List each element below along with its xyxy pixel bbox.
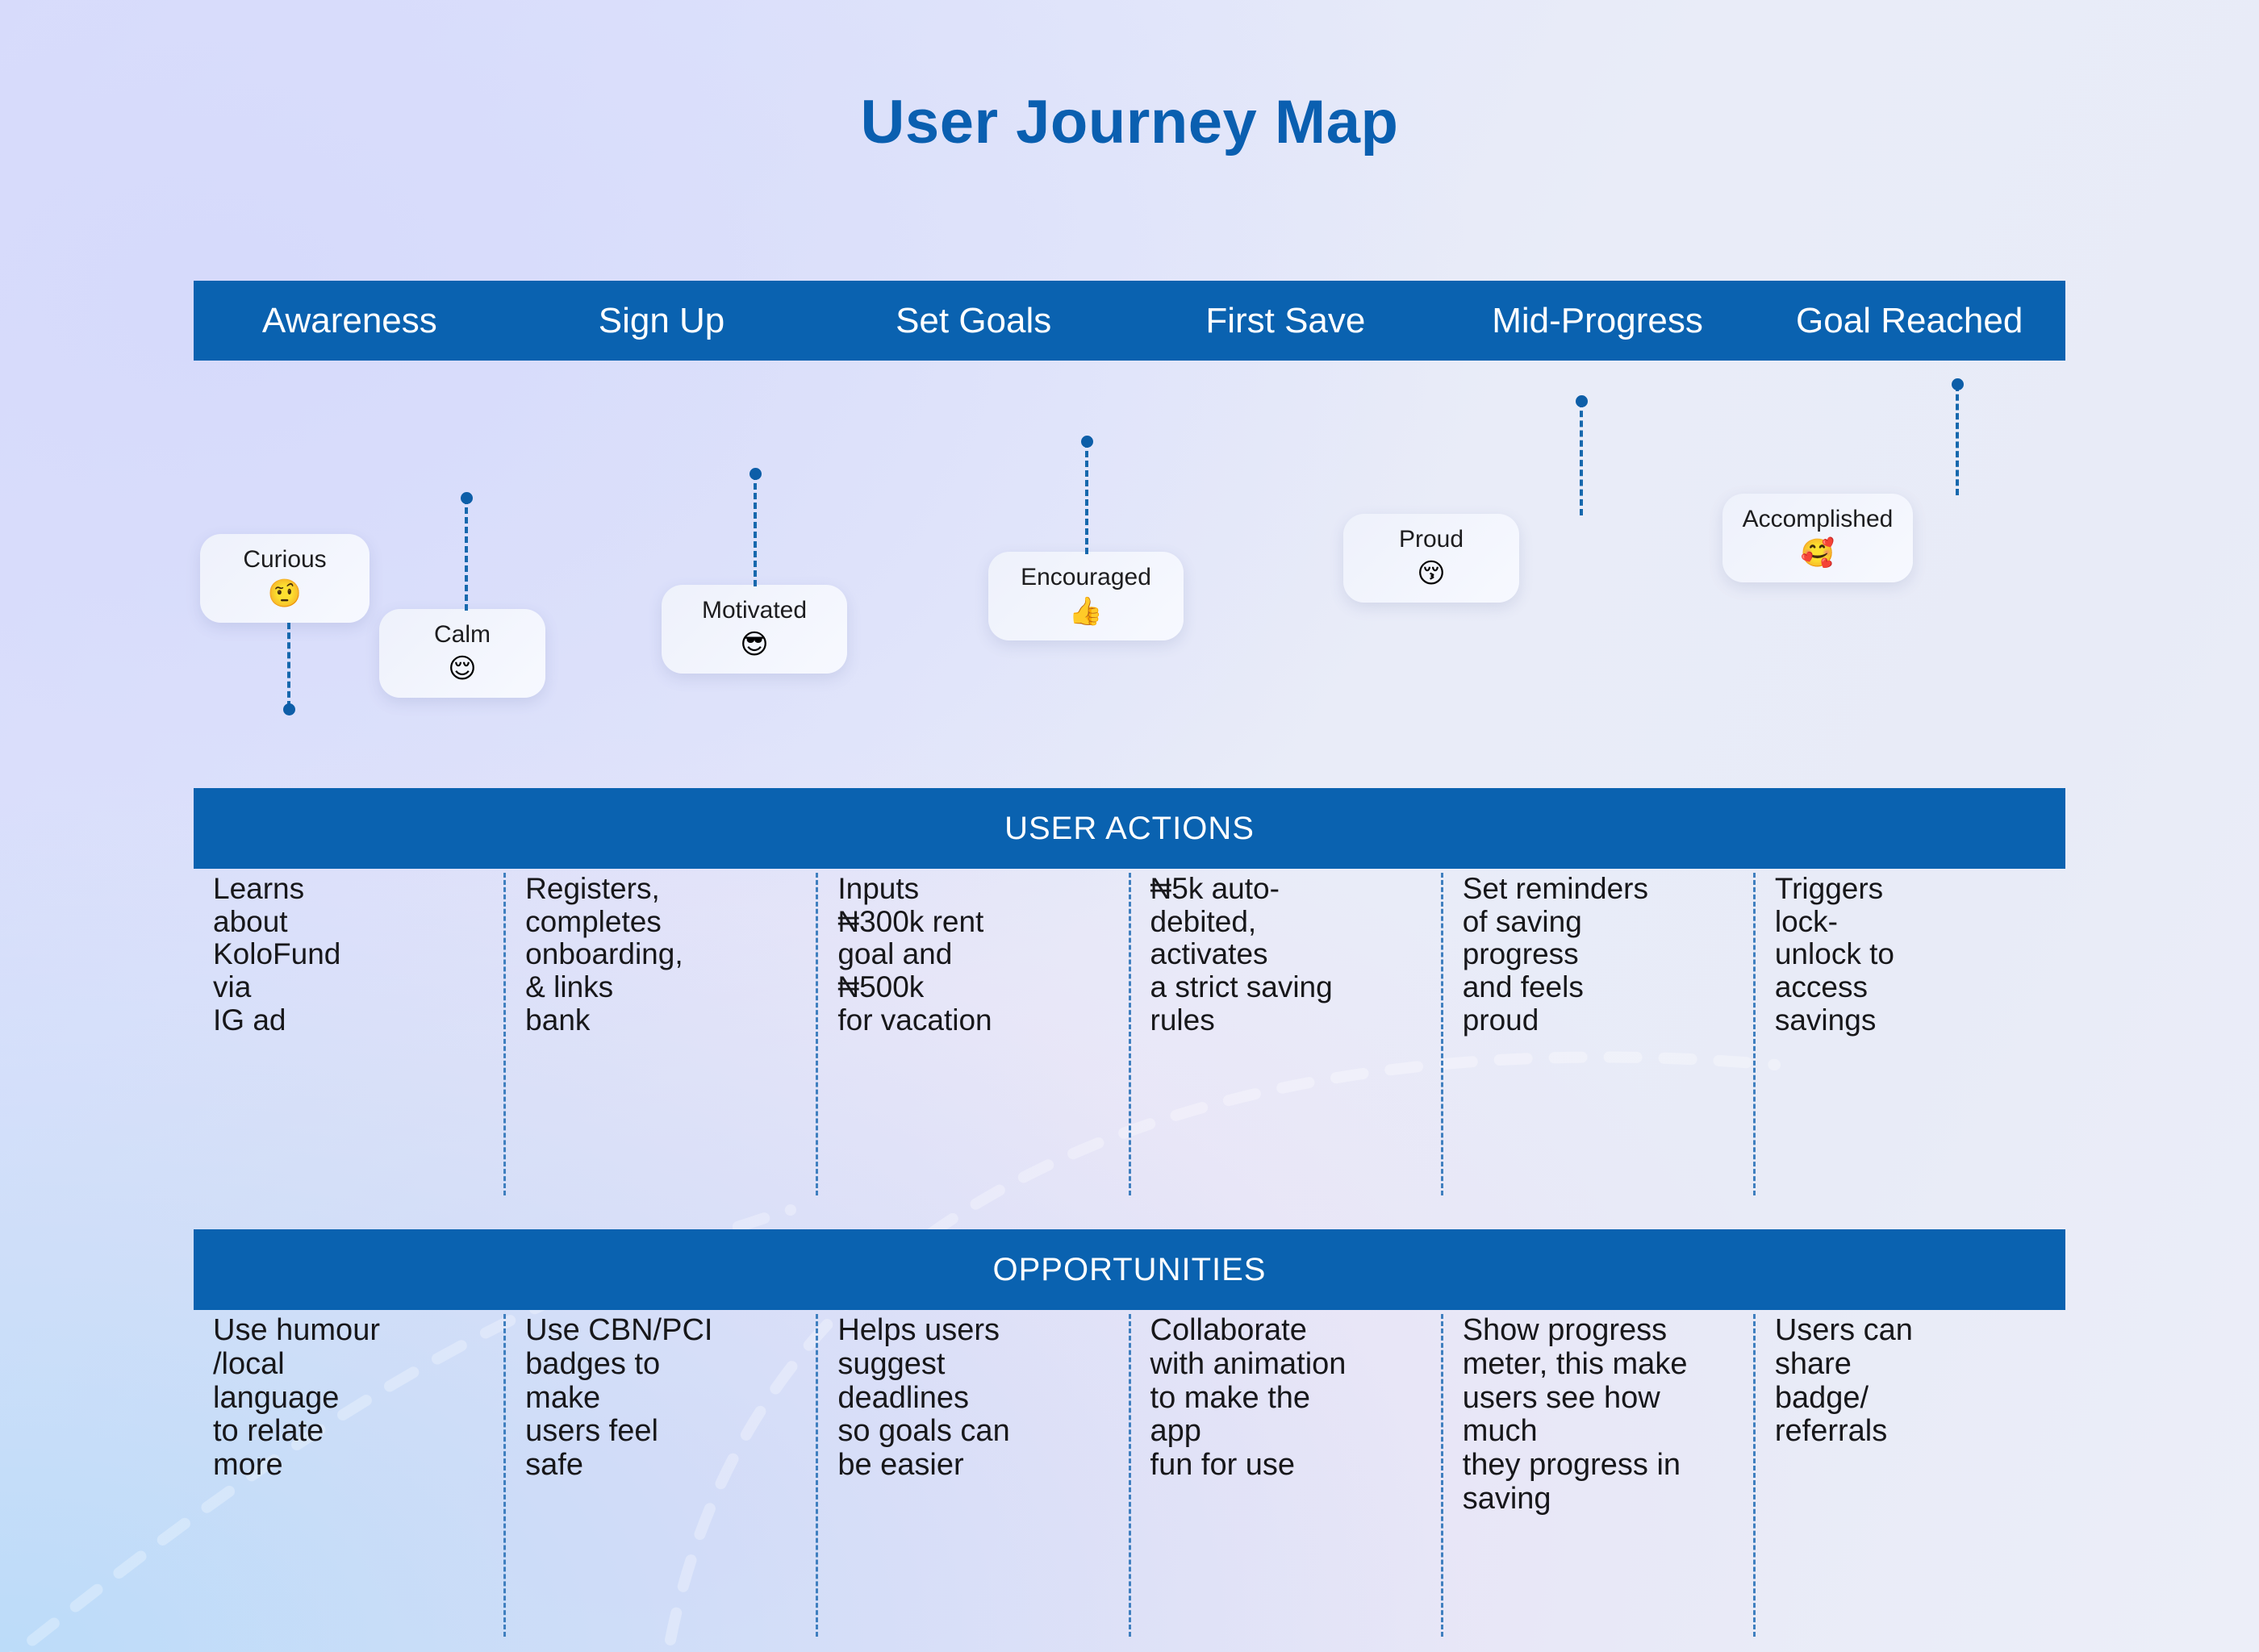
stage-header-set-goals[interactable]: Set Goals (817, 281, 1129, 361)
user-actions-cell-first-save: ₦5k auto- debited, activates a strict sa… (1129, 873, 1441, 1195)
cell-text: Show progress meter, this make users see… (1463, 1314, 1743, 1516)
cell-text: Inputs ₦300k rent goal and ₦500k for vac… (837, 873, 1118, 1037)
section-header-user-actions: USER ACTIONS (194, 788, 2065, 869)
stage-header-first-save[interactable]: First Save (1129, 281, 1442, 361)
emotion-connector-line (1956, 385, 1959, 495)
cell-text: Users can share badge/ referrals (1775, 1314, 2056, 1449)
cell-text: Use CBN/PCI badges to make users feel sa… (525, 1314, 806, 1483)
stage-label: First Save (1205, 301, 1365, 341)
emotion-connector-line (287, 623, 290, 707)
emotion-card-calm[interactable]: Calm 😌 (379, 609, 545, 698)
cell-text: Learns about KoloFund via IG ad (213, 873, 494, 1037)
opportunities-cell-awareness: Use humour /local language to relate mor… (194, 1314, 503, 1637)
emotion-card-accomplished[interactable]: Accomplished 🥰 (1722, 494, 1913, 582)
thumbs-up-emoji: 👍 (1069, 595, 1103, 628)
cell-text: Registers, completes onboarding, & links… (525, 873, 806, 1037)
emotion-label: Curious (243, 546, 326, 574)
opportunities-cell-goal-reached: Users can share badge/ referrals (1753, 1314, 2065, 1637)
emotion-label: Calm (434, 621, 491, 649)
emotion-connector-line (1085, 441, 1088, 554)
user-actions-cell-awareness: Learns about KoloFund via IG ad (194, 873, 503, 1195)
stage-label: Awareness (262, 301, 437, 341)
face-with-raised-eyebrow-emoji: 🤨 (268, 578, 302, 611)
section-heading-label: USER ACTIONS (1004, 811, 1255, 847)
opportunities-cell-set-goals: Helps users suggest deadlines so goals c… (816, 1314, 1128, 1637)
emotion-connector-dot (1081, 436, 1093, 448)
smiling-face-with-sunglasses-emoji: 😎 (740, 628, 768, 661)
emotion-label: Accomplished (1743, 506, 1894, 534)
opportunities-cell-mid-progress: Show progress meter, this make users see… (1441, 1314, 1753, 1637)
smiling-face-with-hearts-emoji: 🥰 (1801, 537, 1835, 570)
emotion-connector-line (465, 498, 468, 611)
emotion-card-curious[interactable]: Curious 🤨 (200, 534, 370, 623)
section-header-opportunities: OPPORTUNITIES (194, 1229, 2065, 1310)
user-actions-cell-set-goals: Inputs ₦300k rent goal and ₦500k for vac… (816, 873, 1128, 1195)
emotion-label: Encouraged (1021, 564, 1151, 592)
emotion-connector-line (754, 473, 757, 586)
cell-text: Helps users suggest deadlines so goals c… (837, 1314, 1118, 1483)
cell-text: Triggers lock- unlock to access savings (1775, 873, 2056, 1037)
emotion-label: Motivated (702, 597, 807, 625)
emotion-label: Proud (1399, 526, 1464, 554)
cell-text: Use humour /local language to relate mor… (213, 1314, 494, 1483)
emotion-zone: Curious 🤨 Calm 😌 Motivated 😎 (194, 361, 2065, 772)
emotion-card-encouraged[interactable]: Encouraged 👍 (988, 552, 1184, 640)
opportunities-cell-sign-up: Use CBN/PCI badges to make users feel sa… (503, 1314, 816, 1637)
stage-label: Goal Reached (1796, 301, 2023, 341)
emotion-card-motivated[interactable]: Motivated 😎 (662, 585, 847, 674)
user-actions-grid: Learns about KoloFund via IG ad Register… (194, 873, 2065, 1195)
emotion-connector-dot (461, 492, 473, 504)
emotion-connector-dot (1576, 395, 1588, 407)
user-actions-cell-mid-progress: Set reminders of saving progress and fee… (1441, 873, 1753, 1195)
stage-label: Set Goals (896, 301, 1051, 341)
emotion-connector-dot (1952, 378, 1964, 390)
section-heading-label: OPPORTUNITIES (993, 1252, 1267, 1288)
user-actions-cell-sign-up: Registers, completes onboarding, & links… (503, 873, 816, 1195)
stage-header-sign-up[interactable]: Sign Up (506, 281, 818, 361)
stage-header-awareness[interactable]: Awareness (194, 281, 506, 361)
emotion-connector-line (1580, 401, 1583, 515)
relieved-face-emoji: 😌 (448, 653, 476, 686)
stage-label: Mid-Progress (1492, 301, 1703, 341)
page-title: User Journey Map (0, 87, 2259, 157)
user-actions-cell-goal-reached: Triggers lock- unlock to access savings (1753, 873, 2065, 1195)
emotion-connector-dot (750, 468, 762, 480)
cell-text: Set reminders of saving progress and fee… (1463, 873, 1743, 1037)
kissing-face-closed-eyes-emoji: 😚 (1417, 557, 1445, 590)
cell-text: ₦5k auto- debited, activates a strict sa… (1150, 873, 1431, 1037)
stage-header-mid-progress[interactable]: Mid-Progress (1442, 281, 1754, 361)
cell-text: Collaborate with animation to make the a… (1150, 1314, 1431, 1483)
emotion-connector-dot (283, 703, 295, 715)
opportunities-grid: Use humour /local language to relate mor… (194, 1314, 2065, 1637)
stage-header-bar: Awareness Sign Up Set Goals First Save M… (194, 281, 2065, 361)
stage-header-goal-reached[interactable]: Goal Reached (1753, 281, 2065, 361)
emotion-card-proud[interactable]: Proud 😚 (1343, 514, 1519, 603)
stage-label: Sign Up (599, 301, 725, 341)
opportunities-cell-first-save: Collaborate with animation to make the a… (1129, 1314, 1441, 1637)
